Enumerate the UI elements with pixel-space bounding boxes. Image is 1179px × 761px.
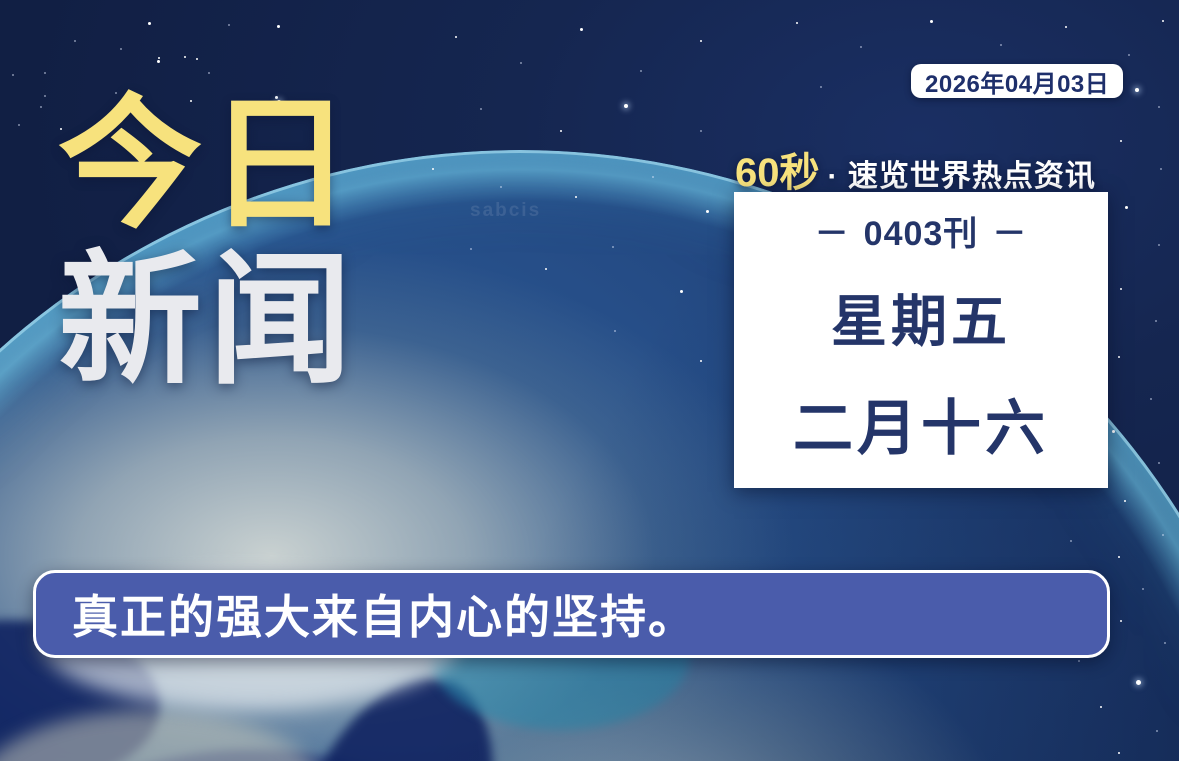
tagline-seconds: 60秒 (735, 140, 820, 198)
tagline-rest: · 速览世界热点资讯 (828, 151, 1096, 195)
title-line-news: 新闻 (58, 252, 358, 390)
issue-number: 0403刊 (864, 206, 979, 255)
title-line-today: 今日 (58, 96, 358, 234)
quote-banner: 真正的强大来自内心的坚持。 (33, 570, 1110, 658)
date-badge-label: 2026年04月03日 (925, 64, 1109, 99)
news-poster: sabcis 今日 新闻 2026年04月03日 60秒 · 速览世界热点资讯 … (0, 0, 1179, 761)
tagline: 60秒 · 速览世界热点资讯 (735, 140, 1096, 198)
watermark-text: sabcis (470, 200, 541, 222)
issue-row: － 0403刊 － (815, 206, 1028, 255)
date-badge: 2026年04月03日 (911, 64, 1123, 98)
poster-title: 今日 新闻 (58, 96, 358, 390)
quote-text: 真正的强大来自内心的坚持。 (72, 581, 696, 647)
weekday-label: 星期五 (831, 277, 1011, 358)
issue-dash-left: － (815, 206, 850, 255)
issue-dash-right: － (992, 206, 1027, 255)
issue-info-card: － 0403刊 － 星期五 二月十六 (734, 192, 1108, 488)
lunar-date-label: 二月十六 (793, 380, 1049, 467)
